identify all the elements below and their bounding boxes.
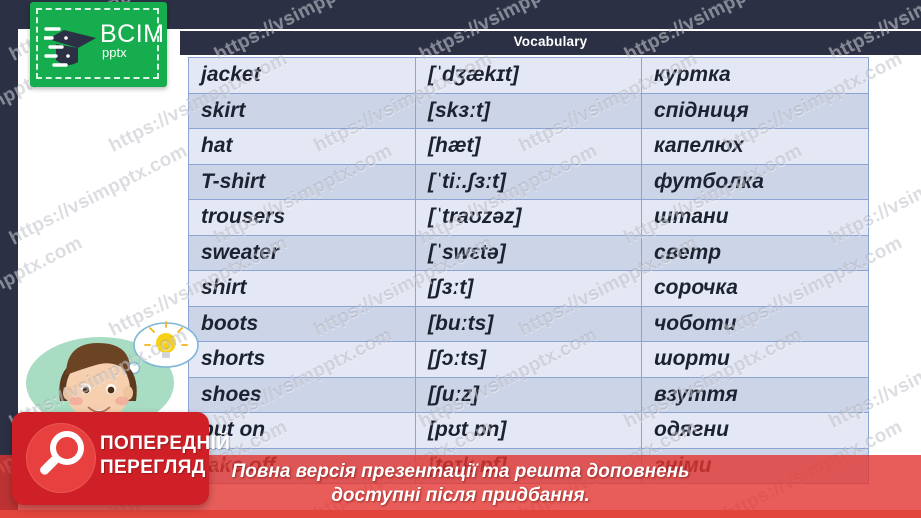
table-row: sweater [ˈswɛtə] светр: [189, 235, 869, 271]
cell-word: hat: [189, 129, 416, 165]
cell-phonetic: [ˈtiː.ʃɜːt]: [416, 164, 642, 200]
cell-word: trousers: [189, 200, 416, 236]
cell-word: jacket: [189, 58, 416, 94]
badge-label-line1: ПОПЕРЕДНІЙ: [100, 432, 230, 456]
cell-translation: футболка: [642, 164, 869, 200]
cell-word: boots: [189, 306, 416, 342]
table-row: boots [buːts] чоботи: [189, 306, 869, 342]
magnifier-icon: [26, 423, 96, 493]
cell-translation: сорочка: [642, 271, 869, 307]
badge-label: ПОПЕРЕДНІЙ ПЕРЕГЛЯД: [100, 432, 230, 480]
cell-word: T-shirt: [189, 164, 416, 200]
cell-phonetic: [ʃuːz]: [416, 377, 642, 413]
cell-phonetic: [buːts]: [416, 306, 642, 342]
cell-phonetic: [pʊt ɒn]: [416, 413, 642, 449]
cell-phonetic: [ʃɔːts]: [416, 342, 642, 378]
cell-word: skirt: [189, 93, 416, 129]
cell-word: sweater: [189, 235, 416, 271]
vocabulary-title: Vocabulary: [180, 34, 921, 49]
bcim-logo: BCIM pptx: [30, 2, 167, 87]
table-row: shoes [ʃuːz] взуття: [189, 377, 869, 413]
cell-phonetic: [ˈtraʊzəz]: [416, 200, 642, 236]
cell-translation: взуття: [642, 377, 869, 413]
badge-label-line2: ПЕРЕГЛЯД: [100, 456, 230, 480]
table-row: shirt [ʃɜːt] сорочка: [189, 271, 869, 307]
cell-phonetic: [ˈdʒækɪt]: [416, 58, 642, 94]
logo-name-secondary: pptx: [100, 46, 165, 60]
vocabulary-table-body: jacket [ˈdʒækɪt] куртка skirt [skɜːt] сп…: [189, 58, 869, 484]
table-row: shorts [ʃɔːts] шорти: [189, 342, 869, 378]
vocabulary-header-bar: Vocabulary: [180, 31, 921, 55]
cell-phonetic: [skɜːt]: [416, 93, 642, 129]
table-row: jacket [ˈdʒækɪt] куртка: [189, 58, 869, 94]
graduation-cap-icon: [44, 20, 100, 72]
badge-icon-circle: [26, 423, 96, 493]
cell-word: shirt: [189, 271, 416, 307]
cell-phonetic: [hæt]: [416, 129, 642, 165]
logo-name-primary: BCIM: [100, 22, 165, 46]
table-row: skirt [skɜːt] спідниця: [189, 93, 869, 129]
banner-bottom-strip: [0, 510, 921, 518]
table-row: trousers [ˈtraʊzəz] штани: [189, 200, 869, 236]
table-row: hat [hæt] капелюх: [189, 129, 869, 165]
table-row: T-shirt [ˈtiː.ʃɜːt] футболка: [189, 164, 869, 200]
logo-wordmark: BCIM pptx: [100, 22, 165, 60]
cell-translation: одягни: [642, 413, 869, 449]
cell-translation: штани: [642, 200, 869, 236]
cell-translation: шорти: [642, 342, 869, 378]
cell-translation: чоботи: [642, 306, 869, 342]
slide-viewer: Vocabulary jacket [ˈdʒækɪt] куртка skirt…: [0, 0, 921, 518]
cell-translation: светр: [642, 235, 869, 271]
cell-word: shorts: [189, 342, 416, 378]
vocabulary-table: jacket [ˈdʒækɪt] куртка skirt [skɜːt] сп…: [188, 57, 869, 484]
cell-phonetic: [ˈswɛtə]: [416, 235, 642, 271]
preview-badge: ПОПЕРЕДНІЙ ПЕРЕГЛЯД: [12, 412, 209, 505]
cell-translation: куртка: [642, 58, 869, 94]
cell-translation: спідниця: [642, 93, 869, 129]
cell-word: shoes: [189, 377, 416, 413]
cell-phonetic: [ʃɜːt]: [416, 271, 642, 307]
table-row: put on [pʊt ɒn] одягни: [189, 413, 869, 449]
cell-translation: капелюх: [642, 129, 869, 165]
